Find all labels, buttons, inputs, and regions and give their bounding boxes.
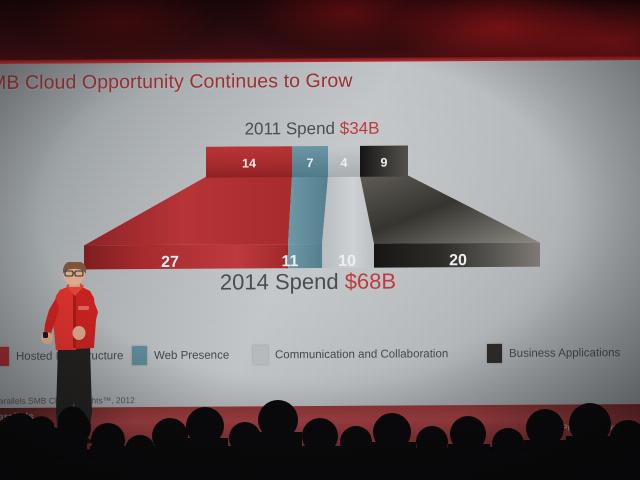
value-bottom-business: 20 xyxy=(449,252,467,269)
value-top-web: 7 xyxy=(307,156,314,170)
value-top-business: 9 xyxy=(381,156,388,170)
value-bottom-hosted: 27 xyxy=(161,254,179,270)
slide-title: MB Cloud Opportunity Continues to Grow xyxy=(0,70,353,95)
caption-2011-amount: $34B xyxy=(340,119,380,138)
legend-label-web: Web Presence xyxy=(154,349,229,361)
photo-scene: MB Cloud Opportunity Continues to Grow 2… xyxy=(0,0,640,480)
value-top-comm: 4 xyxy=(341,156,348,170)
value-top-hosted: 14 xyxy=(242,156,256,170)
caption-2014-amount: $68B xyxy=(345,269,396,294)
audience-silhouettes xyxy=(0,384,640,480)
flow-hosted-infrastructure xyxy=(84,176,292,245)
legend-swatch-icon-web xyxy=(132,346,147,365)
legend-swatch-icon-business xyxy=(487,344,502,363)
funnel-chart: 14 7 4 9 27 11 10 20 xyxy=(0,144,640,270)
bottom-segment-hosted-infrastructure xyxy=(84,244,288,270)
flow-web-presence xyxy=(288,176,328,244)
legend-item-business-applications: Business Applications xyxy=(487,343,620,363)
caption-2011-spend: 2011 Spend $34B xyxy=(0,117,640,141)
legend-swatch-icon-communication xyxy=(253,345,268,364)
legend-item-web-presence: Web Presence xyxy=(132,346,229,366)
caption-2011-prefix: 2011 Spend xyxy=(245,119,340,139)
legend-swatch-icon-hosted xyxy=(0,347,9,366)
legend-item-communication: Communication and Collaboration xyxy=(253,344,448,364)
value-bottom-web: 11 xyxy=(282,253,299,270)
value-bottom-comm: 10 xyxy=(338,253,356,270)
legend-label-business: Business Applications xyxy=(509,347,620,360)
flow-business-applications xyxy=(360,175,540,244)
caption-2014-prefix: 2014 Spend xyxy=(220,269,345,295)
legend-label-communication: Communication and Collaboration xyxy=(275,348,448,361)
